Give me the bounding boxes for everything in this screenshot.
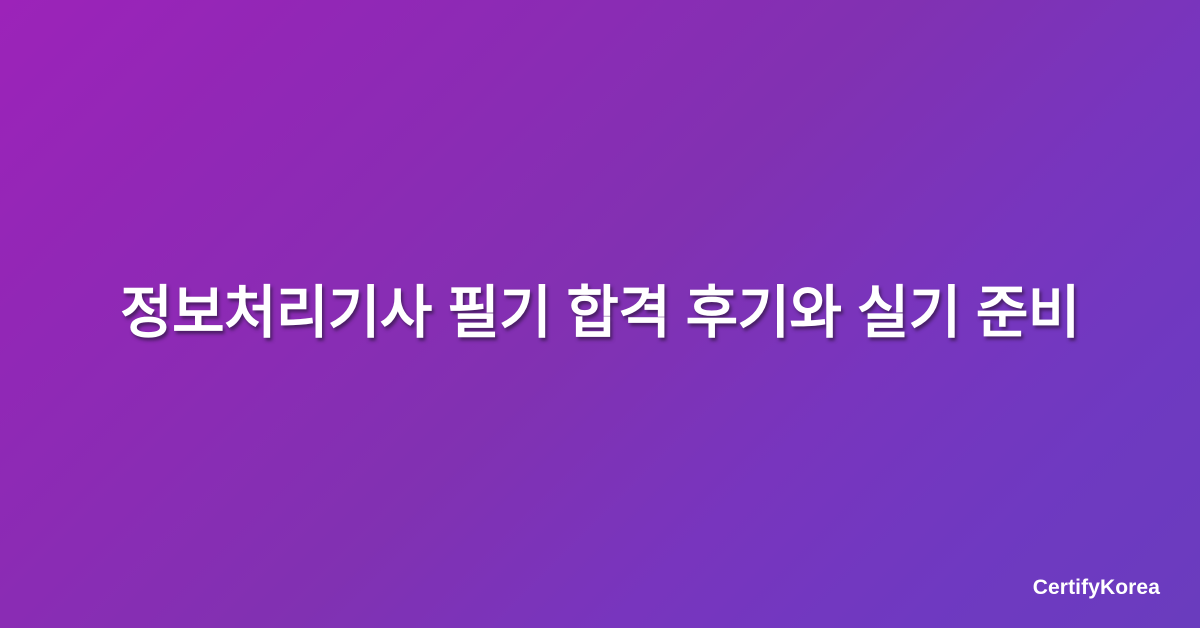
page-title: 정보처리기사 필기 합격 후기와 실기 준비 xyxy=(70,278,1130,349)
brand-watermark: CertifyKorea xyxy=(1033,577,1160,598)
og-card: 정보처리기사 필기 합격 후기와 실기 준비 CertifyKorea xyxy=(0,0,1200,628)
headline-container: 정보처리기사 필기 합격 후기와 실기 준비 xyxy=(0,0,1200,628)
